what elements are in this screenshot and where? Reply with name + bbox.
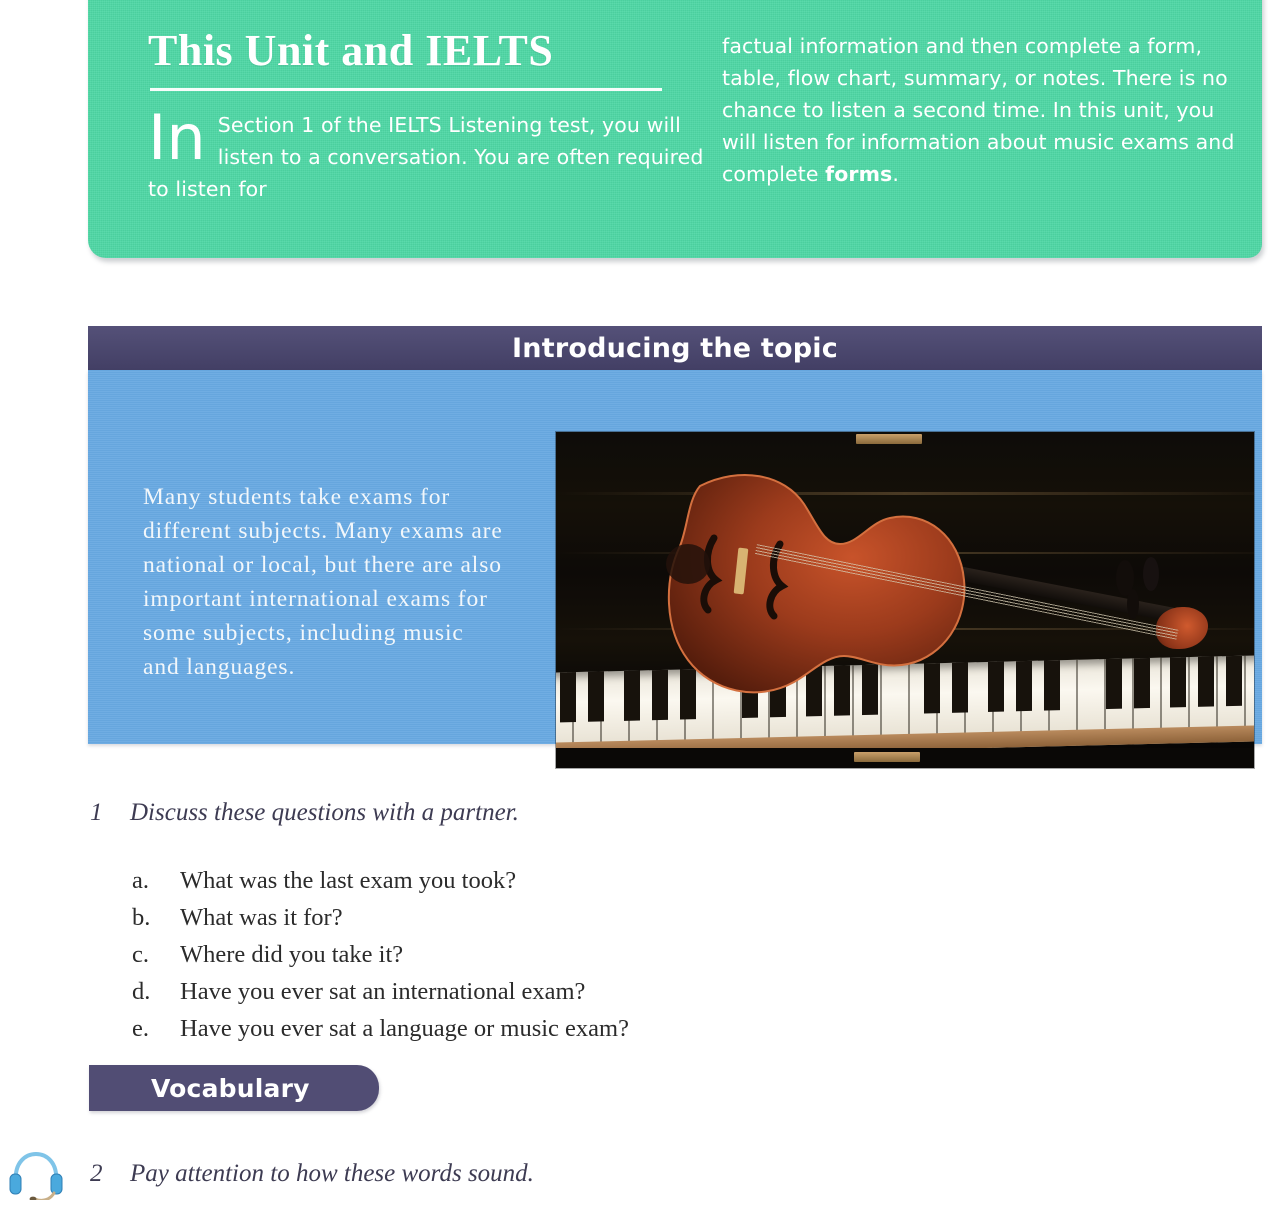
exercise-1-question-list: a. What was the last exam you took? b. W… [132, 862, 890, 1047]
piano-keybed-clip [854, 752, 920, 762]
list-item: a. What was the last exam you took? [132, 862, 890, 899]
exercise-2-number: 2 [90, 1160, 130, 1188]
intro-right-text-before: factual information and then complete a … [722, 34, 1235, 186]
intro-left-column: This Unit and IELTS InSection 1 of the I… [148, 28, 704, 258]
intro-left-paragraph-text: Section 1 of the IELTS Listening test, y… [148, 113, 703, 201]
list-item-text: Have you ever sat a language or music ex… [180, 1010, 629, 1047]
list-item-letter: a. [132, 862, 180, 899]
list-item-letter: d. [132, 973, 180, 1010]
piano-fallboard-clip [856, 434, 922, 444]
list-item-text: Have you ever sat an international exam? [180, 973, 585, 1010]
headset-icon [4, 1148, 68, 1200]
violin-tuning-pegs [1116, 560, 1134, 596]
section-header-bar: Introducing the topic [88, 326, 1262, 370]
intro-left-paragraph: InSection 1 of the IELTS Listening test,… [148, 109, 704, 205]
intro-right-text-after: . [892, 162, 899, 186]
section-header-title: Introducing the topic [512, 333, 838, 364]
intro-right-text-bold: forms [825, 162, 892, 186]
introducing-the-topic-section: Introducing the topic Many students take… [88, 326, 1262, 744]
title-underline-rule [150, 88, 662, 91]
list-item: d. Have you ever sat an international ex… [132, 973, 890, 1010]
exercise-2-instruction: Pay attention to how these words sound. [130, 1160, 534, 1188]
drop-cap: In [148, 109, 206, 165]
list-item-letter: c. [132, 936, 180, 973]
exercise-1-number: 1 [90, 798, 130, 828]
exercise-1: 1 Discuss these questions with a partner… [90, 798, 890, 1047]
exercise-2: 2 Pay attention to how these words sound… [0, 1148, 534, 1200]
unit-intro-box: This Unit and IELTS InSection 1 of the I… [88, 0, 1262, 258]
list-item: c. Where did you take it? [132, 936, 890, 973]
topic-intro-text: Many students take exams for different s… [143, 480, 503, 684]
list-item-text: Where did you take it? [180, 936, 403, 973]
intro-right-paragraph: factual information and then complete a … [722, 28, 1244, 190]
exercise-1-heading: 1 Discuss these questions with a partner… [90, 798, 890, 828]
list-item: e. Have you ever sat a language or music… [132, 1010, 890, 1047]
section-body-panel: Many students take exams for different s… [88, 370, 1262, 744]
list-item-text: What was the last exam you took? [180, 862, 516, 899]
vocabulary-section-tab: Vocabulary [89, 1065, 379, 1111]
list-item-letter: b. [132, 899, 180, 936]
list-item: b. What was it for? [132, 899, 890, 936]
intro-right-column: factual information and then complete a … [704, 28, 1244, 258]
vocabulary-tab-label: Vocabulary [151, 1074, 310, 1103]
page-title: This Unit and IELTS [148, 28, 704, 74]
exercise-1-instruction: Discuss these questions with a partner. [130, 798, 519, 828]
list-item-text: What was it for? [180, 899, 343, 936]
list-item-letter: e. [132, 1010, 180, 1047]
violin-piano-photo [556, 432, 1254, 768]
